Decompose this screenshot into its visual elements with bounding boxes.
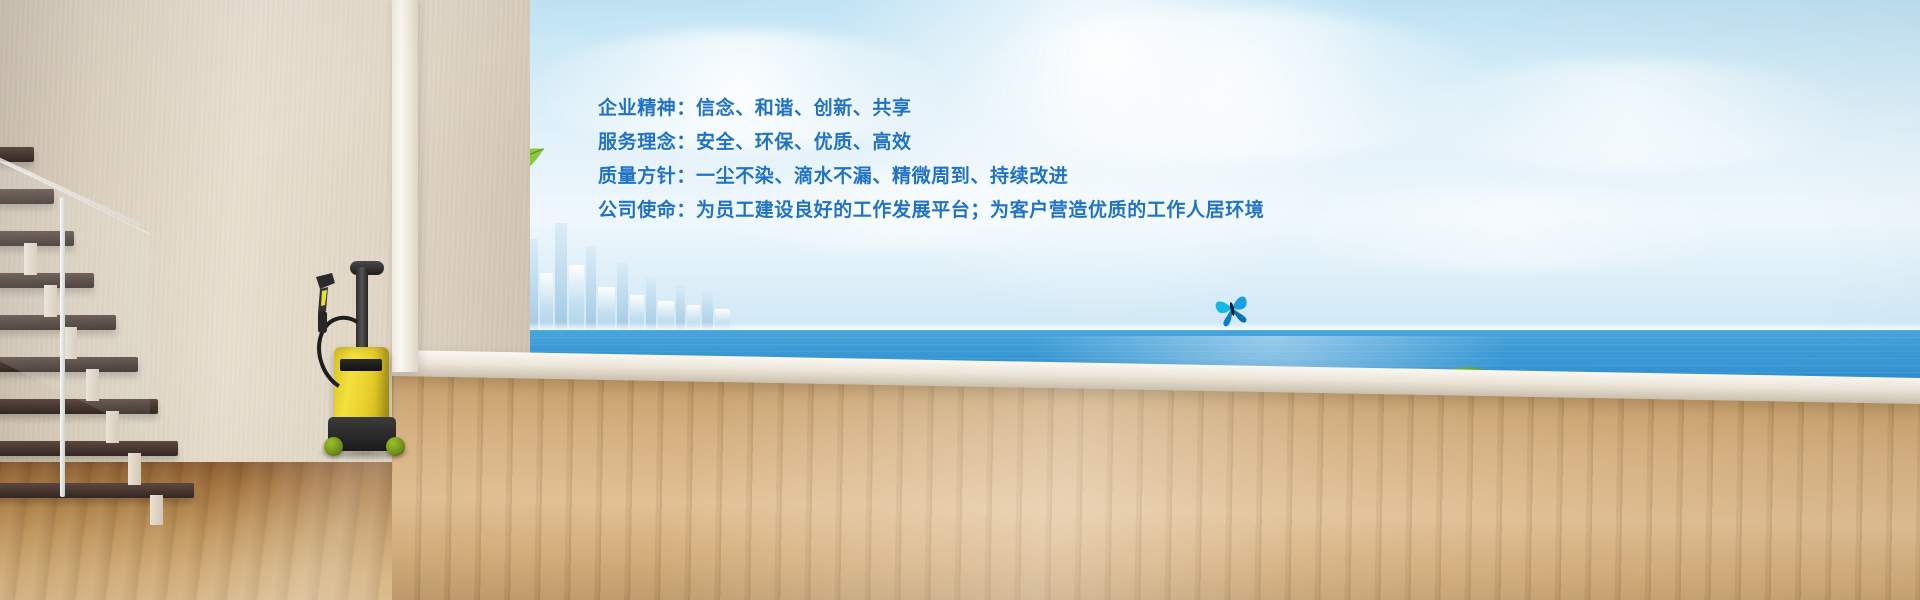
floating-staircase bbox=[0, 145, 220, 505]
stair-step bbox=[0, 483, 194, 498]
machine-wheel bbox=[324, 437, 343, 456]
building bbox=[555, 223, 567, 335]
machine-wheel bbox=[386, 437, 405, 456]
stair-riser bbox=[150, 495, 163, 525]
railing-post bbox=[60, 197, 65, 497]
culture-line-service-philosophy: 服务理念：安全、环保、优质、高效 bbox=[598, 126, 1358, 160]
blue-butterfly-icon bbox=[1212, 288, 1252, 328]
company-culture-banner: 企业精神：信念、和谐、创新、共享 服务理念：安全、环保、优质、高效 质量方针：一… bbox=[0, 0, 1920, 600]
building bbox=[529, 239, 538, 335]
cloud bbox=[1410, 60, 1850, 170]
culture-line-quality-policy: 质量方针：一尘不染、滴水不漏、精微周到、持续改进 bbox=[598, 160, 1358, 194]
wooden-floor-foreground bbox=[392, 372, 1920, 600]
culture-line-enterprise-spirit: 企业精神：信念、和谐、创新、共享 bbox=[598, 92, 1358, 126]
stair-step bbox=[0, 441, 178, 456]
stair-riser bbox=[128, 453, 141, 485]
glass-railing bbox=[0, 141, 150, 435]
spray-gun-icon bbox=[310, 271, 340, 341]
high-pressure-washer bbox=[310, 255, 425, 460]
company-culture-text: 企业精神：信念、和谐、创新、共享 服务理念：安全、环保、优质、高效 质量方针：一… bbox=[598, 92, 1358, 228]
culture-line-company-mission: 公司使命：为员工建设良好的工作发展平台；为客户营造优质的工作人居环境 bbox=[598, 194, 1358, 228]
